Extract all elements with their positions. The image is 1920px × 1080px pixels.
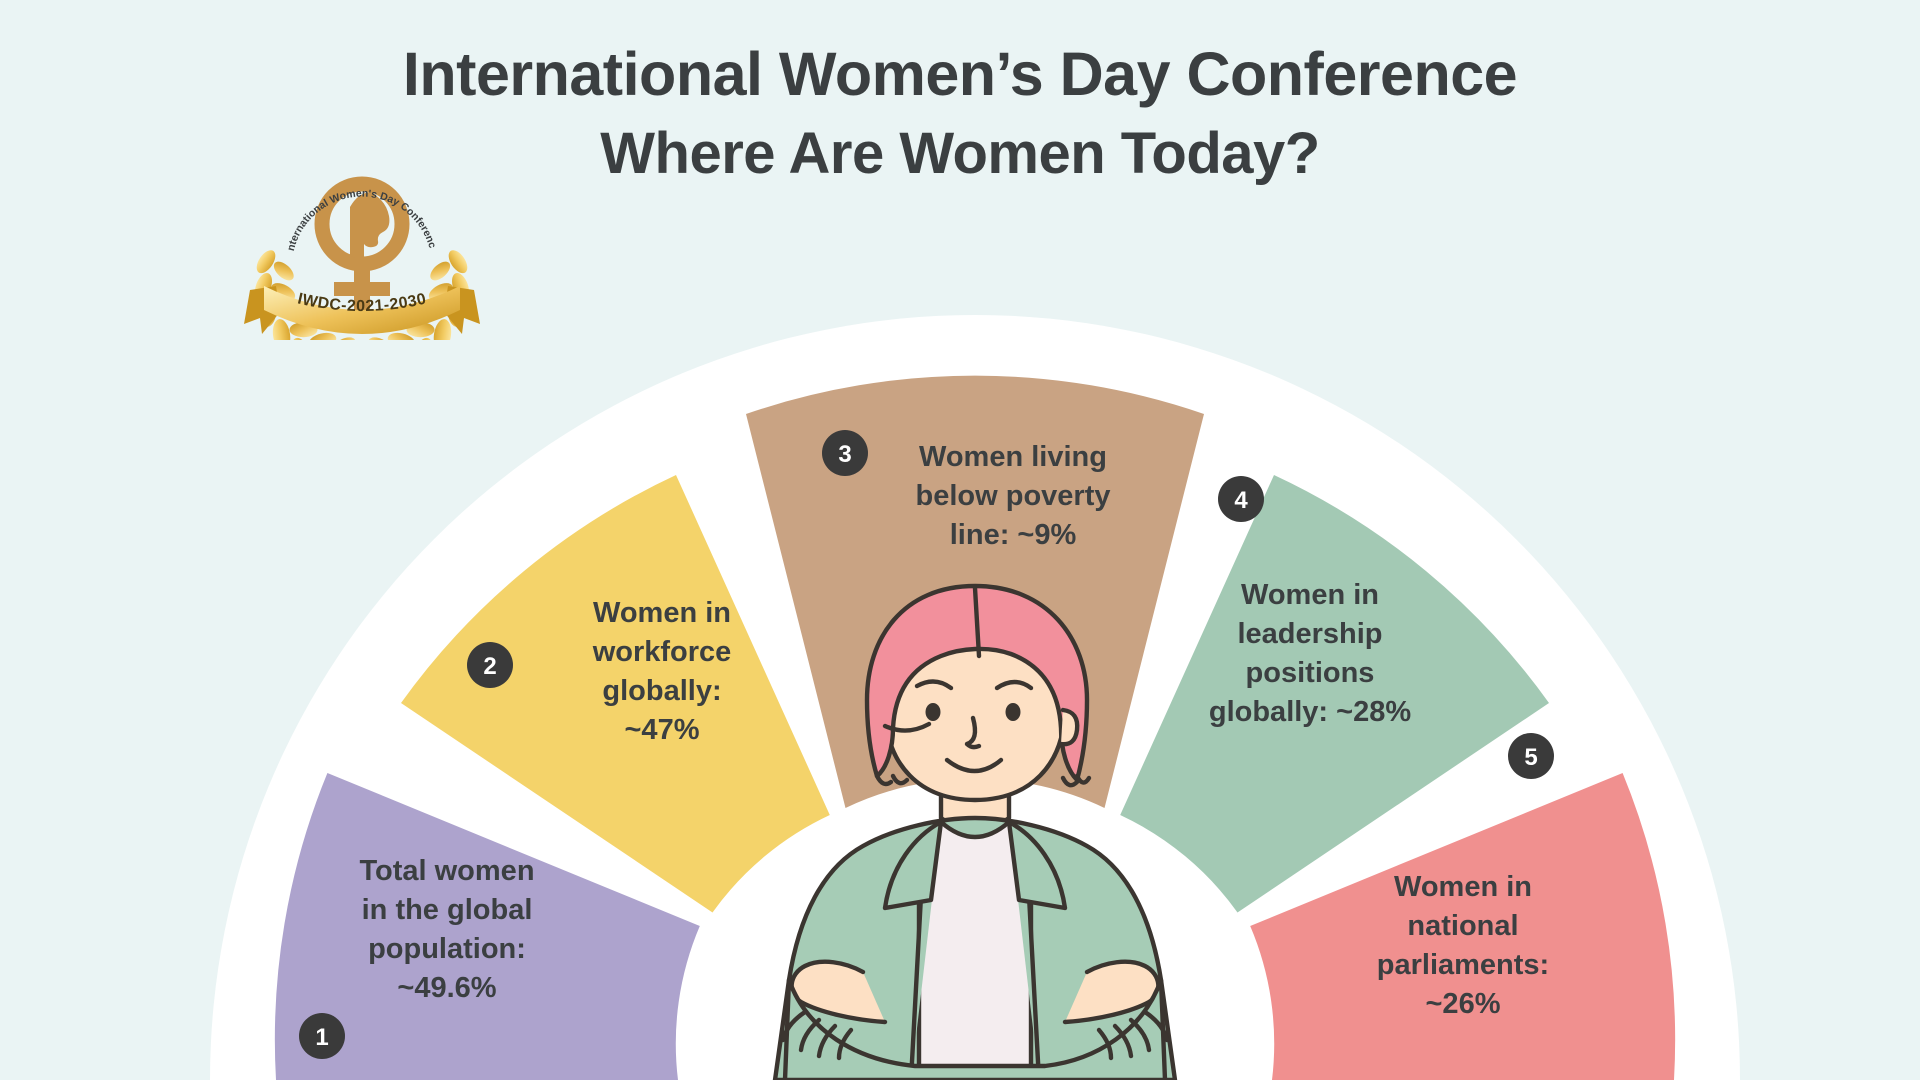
svg-text:population:: population: [368, 933, 526, 965]
svg-text:~26%: ~26% [1426, 988, 1501, 1020]
svg-text:5: 5 [1524, 744, 1537, 771]
segment-1-badge[interactable]: 1 [299, 1013, 345, 1059]
svg-text:workforce: workforce [592, 636, 732, 668]
svg-text:globally:: globally: [602, 675, 721, 707]
svg-text:below poverty: below poverty [916, 480, 1111, 512]
svg-text:4: 4 [1234, 487, 1248, 514]
svg-text:Women in: Women in [1241, 579, 1379, 611]
svg-text:Women in: Women in [1394, 871, 1532, 903]
svg-text:Total women: Total women [359, 855, 534, 887]
iwdc-logo: International Women's Day Conference IWD… [222, 120, 502, 340]
svg-text:~49.6%: ~49.6% [397, 972, 496, 1004]
svg-text:~47%: ~47% [625, 714, 700, 746]
segment-4-badge[interactable]: 4 [1218, 476, 1264, 522]
svg-text:parliaments:: parliaments: [1377, 949, 1549, 981]
svg-text:Women in: Women in [593, 597, 731, 629]
svg-text:globally: ~28%: globally: ~28% [1209, 696, 1411, 728]
svg-text:3: 3 [838, 441, 851, 468]
infographic-canvas: International Women’s Day Conference Whe… [0, 0, 1920, 1080]
svg-text:2: 2 [483, 653, 496, 680]
segment-2-badge[interactable]: 2 [467, 642, 513, 688]
segment-3-badge[interactable]: 3 [822, 430, 868, 476]
woman-illustration [745, 560, 1205, 1080]
svg-text:Women living: Women living [919, 441, 1107, 473]
segment-5-badge[interactable]: 5 [1508, 733, 1554, 779]
svg-text:national: national [1407, 910, 1518, 942]
svg-text:positions: positions [1246, 657, 1375, 689]
svg-text:leadership: leadership [1237, 618, 1382, 650]
svg-text:1: 1 [315, 1024, 328, 1051]
svg-text:line: ~9%: line: ~9% [950, 519, 1077, 551]
svg-text:in the global: in the global [362, 894, 533, 926]
